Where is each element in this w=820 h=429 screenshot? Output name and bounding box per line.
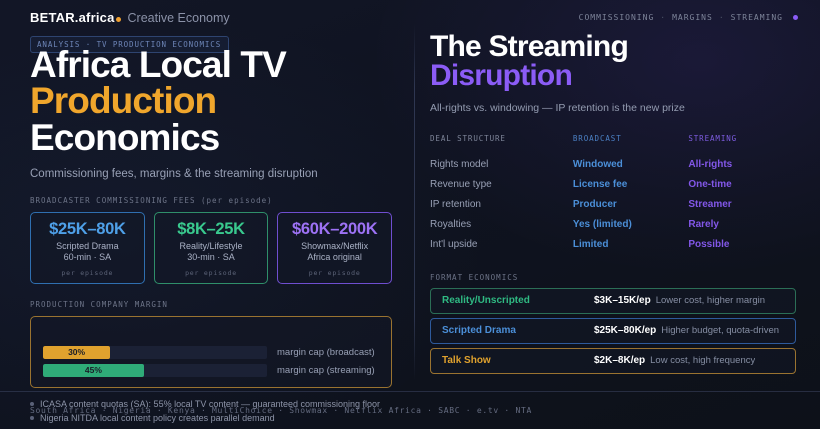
fee-card-meta: 30-min · SA [161, 252, 262, 263]
table-cell-streaming: One-time [688, 179, 796, 190]
table-cell-streaming: Streamer [688, 199, 796, 210]
margin-bar-fill: 45% [43, 364, 144, 377]
nav-item-commissioning[interactable]: COMMISSIONING [579, 13, 655, 22]
margin-chart: 30% margin cap (broadcast) 45% margin ca… [30, 316, 392, 388]
nav-item-margins[interactable]: MARGINS [672, 13, 713, 22]
nav-separator: · [719, 13, 725, 22]
format-name: Talk Show [442, 355, 594, 366]
table-cell-streaming: Possible [688, 239, 796, 250]
footer-text: South Africa · Nigeria · Kenya · MultiCh… [30, 406, 532, 415]
format-row-scripted-drama: Scripted Drama $25K–80K/ep Higher budget… [430, 318, 796, 344]
fee-card-meta: 60-min · SA [37, 252, 138, 263]
top-bar: BETAR.africa Creative Economy COMMISSION… [0, 0, 820, 34]
table-header-broadcast: BROADCAST [573, 134, 688, 143]
table-row: Rights model Windowed All-rights [430, 155, 796, 175]
table-header-row: DEAL STRUCTURE BROADCAST STREAMING [430, 134, 796, 155]
fee-card-meta: Africa original [284, 252, 385, 263]
right-headline: The Streaming Disruption [430, 32, 796, 91]
fee-card-value: $8K–25K [161, 221, 262, 238]
footer: South Africa · Nigeria · Kenya · MultiCh… [0, 391, 820, 429]
left-headline: Africa Local TV Production Economics [30, 47, 392, 156]
deal-structure-table: DEAL STRUCTURE BROADCAST STREAMING Right… [430, 134, 796, 255]
table-cell-streaming: All-rights [688, 159, 796, 170]
margin-bar-label: margin cap (streaming) [277, 365, 375, 376]
table-row: Int'l upside Limited Possible [430, 235, 796, 255]
fee-card-name: Scripted Drama [37, 241, 138, 252]
fee-card-streamer-original: $60K–200K Showmax/Netflix Africa origina… [277, 212, 392, 284]
format-economics-label: FORMAT ECONOMICS [430, 273, 796, 282]
nav-separator: · [660, 13, 666, 22]
nav-item-streaming[interactable]: STREAMING [731, 13, 783, 22]
margin-bar-pct: 45% [85, 365, 102, 375]
fees-section-label: BROADCASTER COMMISSIONING FEES (per epis… [30, 196, 392, 205]
table-cell-attribute: Revenue type [430, 179, 573, 190]
fee-card-name: Showmax/Netflix [284, 241, 385, 252]
brand-accent-dot [116, 17, 121, 22]
brand-tagline: Creative Economy [128, 11, 230, 25]
headline-accent: Production [30, 83, 392, 119]
table-cell-attribute: Royalties [430, 219, 573, 230]
format-price: $3K–15K/ep [594, 295, 651, 306]
table-cell-broadcast: Producer [573, 199, 688, 210]
headline-line-1: Africa Local TV [30, 44, 286, 85]
table-cell-broadcast: License fee [573, 179, 688, 190]
format-desc: Low cost, high frequency [650, 355, 755, 366]
table-cell-attribute: Rights model [430, 159, 573, 170]
status-dot-icon [793, 15, 798, 20]
table-header-deal-structure: DEAL STRUCTURE [430, 134, 573, 143]
margin-bar-label: margin cap (broadcast) [277, 347, 375, 358]
table-cell-broadcast: Limited [573, 239, 688, 250]
right-subtitle: All-rights vs. windowing — IP retention … [430, 102, 796, 114]
table-row: Royalties Yes (limited) Rarely [430, 215, 796, 235]
fee-card-name: Reality/Lifestyle [161, 241, 262, 252]
fee-card-value: $60K–200K [284, 221, 385, 238]
format-row-talk-show: Talk Show $2K–8K/ep Low cost, high frequ… [430, 348, 796, 374]
brand-logo: BETAR.africa Creative Economy [30, 10, 230, 25]
format-row-reality-unscripted: Reality/Unscripted $3K–15K/ep Lower cost… [430, 288, 796, 314]
format-desc: Lower cost, higher margin [656, 295, 765, 306]
fee-card-value: $25K–80K [37, 221, 138, 238]
table-cell-attribute: Int'l upside [430, 239, 573, 250]
fee-card-reality-lifestyle: $8K–25K Reality/Lifestyle 30-min · SA pe… [154, 212, 269, 284]
headline-line-3: Economics [30, 117, 219, 158]
format-desc: Higher budget, quota-driven [661, 325, 779, 336]
top-nav: COMMISSIONING · MARGINS · STREAMING [579, 13, 798, 22]
format-price: $2K–8K/ep [594, 355, 645, 366]
table-row: Revenue type License fee One-time [430, 175, 796, 195]
right-panel: The Streaming Disruption All-rights vs. … [414, 30, 820, 390]
fee-card-foot: per episode [37, 269, 138, 277]
right-headline-accent: Disruption [430, 61, 796, 90]
margin-bar-fill: 30% [43, 346, 110, 359]
fee-cards: $25K–80K Scripted Drama 60-min · SA per … [30, 212, 392, 284]
table-cell-broadcast: Windowed [573, 159, 688, 170]
left-subtitle: Commissioning fees, margins & the stream… [30, 168, 392, 180]
fee-card-foot: per episode [284, 269, 385, 277]
margin-bar-pct: 30% [68, 347, 85, 357]
slide-root: BETAR.africa Creative Economy COMMISSION… [0, 0, 820, 429]
brand-name: BETAR.africa [30, 10, 121, 25]
margin-bar-track: 30% [43, 346, 267, 359]
table-header-streaming: STREAMING [688, 134, 796, 143]
left-panel: ANALYSIS · TV PRODUCTION ECONOMICS Afric… [0, 30, 414, 390]
margin-bar-row-broadcast: 30% margin cap (broadcast) [43, 346, 379, 359]
fee-card-foot: per episode [161, 269, 262, 277]
table-cell-attribute: IP retention [430, 199, 573, 210]
margin-section-label: PRODUCTION COMPANY MARGIN [30, 300, 392, 309]
right-headline-line-1: The Streaming [430, 30, 628, 63]
table-row: IP retention Producer Streamer [430, 195, 796, 215]
format-name: Reality/Unscripted [442, 295, 594, 306]
format-name: Scripted Drama [442, 325, 594, 336]
format-price: $25K–80K/ep [594, 325, 656, 336]
table-cell-streaming: Rarely [688, 219, 796, 230]
margin-bar-track: 45% [43, 364, 267, 377]
table-cell-broadcast: Yes (limited) [573, 219, 688, 230]
format-economics-list: Reality/Unscripted $3K–15K/ep Lower cost… [430, 288, 796, 374]
fee-card-scripted-drama: $25K–80K Scripted Drama 60-min · SA per … [30, 212, 145, 284]
margin-bar-row-streaming: 45% margin cap (streaming) [43, 364, 379, 377]
